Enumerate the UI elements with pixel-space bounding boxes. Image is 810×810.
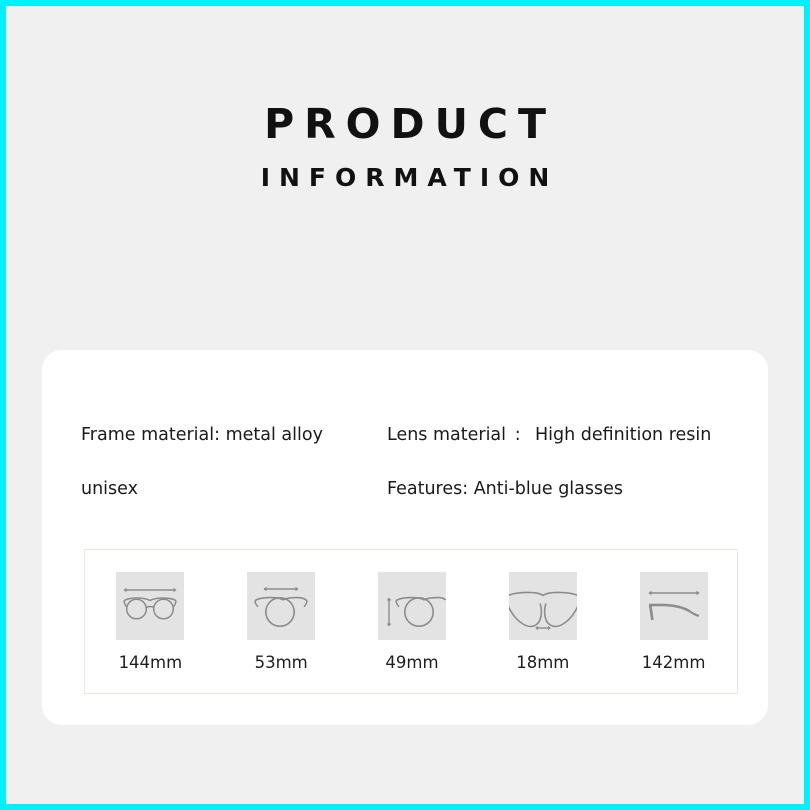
measurement-item: 144mm: [102, 572, 198, 672]
spec-row: Frame material: metal alloy Lens materia…: [42, 424, 768, 446]
measurement-label: 53mm: [255, 655, 308, 672]
spec-frame-material: Frame material: metal alloy: [81, 424, 323, 446]
lens-height-icon: [378, 572, 446, 640]
page-frame: PRODUCT INFORMATION Frame material: meta…: [0, 0, 810, 810]
measurement-label: 144mm: [119, 655, 183, 672]
spec-features: Features: Anti-blue glasses: [387, 478, 623, 500]
product-info-card: Frame material: metal alloy Lens materia…: [42, 350, 768, 725]
spec-row: unisex Features: Anti-blue glasses: [42, 478, 768, 500]
glasses-front-width-icon: [116, 572, 184, 640]
temple-length-icon: [640, 572, 708, 640]
measurement-item: 49mm: [364, 572, 460, 672]
spec-lens-material: Lens material : High definition resin: [387, 424, 711, 446]
measurements-strip: 144mm: [85, 550, 739, 695]
bridge-width-icon: [509, 572, 577, 640]
page-title: PRODUCT: [6, 104, 804, 145]
page-subtitle: INFORMATION: [6, 165, 804, 190]
measurement-item: 142mm: [626, 572, 722, 672]
measurement-label: 49mm: [385, 655, 438, 672]
measurement-item: 53mm: [233, 572, 329, 672]
measurement-label: 142mm: [642, 655, 706, 672]
measurement-label: 18mm: [516, 655, 569, 672]
measurement-item: 18mm: [495, 572, 591, 672]
page-canvas: PRODUCT INFORMATION Frame material: meta…: [6, 6, 804, 804]
spec-gender: unisex: [81, 478, 138, 500]
measurements-panel: 144mm: [84, 549, 738, 694]
lens-width-icon: [247, 572, 315, 640]
page-heading: PRODUCT INFORMATION: [6, 104, 804, 190]
